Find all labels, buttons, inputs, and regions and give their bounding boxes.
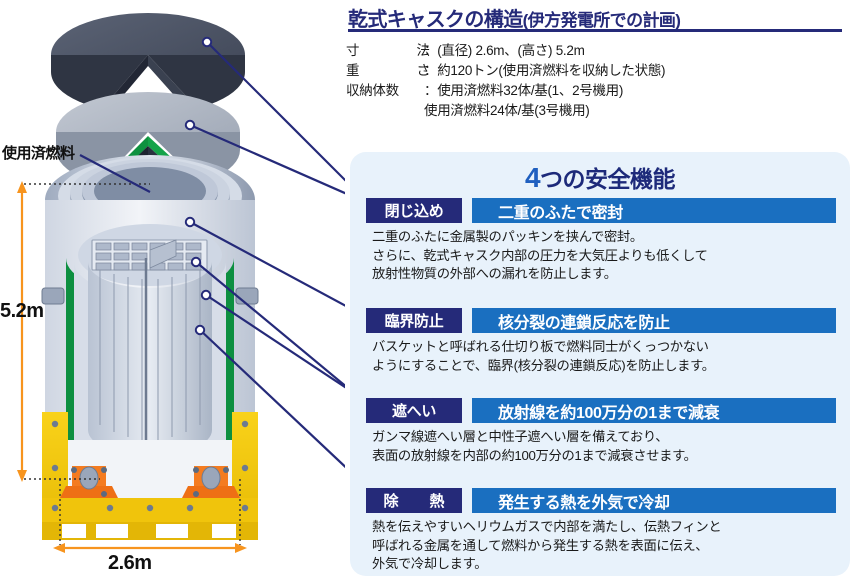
feature-tag: 臨界防止 [366, 308, 462, 333]
spec-sep: ： [424, 43, 437, 58]
feature-body: ガンマ線遮へい層と中性子遮へい層を備えており、 表面の放射線を内部の約100万分… [372, 428, 836, 465]
feature-header: 遮へい 放射線を約100万分の1まで減衰 [366, 398, 836, 423]
feature-header: 除 熱 発生する熱を外気で冷却 [366, 488, 836, 513]
spec-value: 使用済燃料24体/基(3号機用) [424, 103, 589, 118]
spec-row: 収納体数：使用済燃料32体/基(1、2号機用) [346, 81, 850, 101]
safety-features-panel: 4つの安全機能 閉じ込め 二重のふたで密封 二重のふたに金属製のパッキンを挟んで… [350, 152, 850, 576]
feature-body: バスケットと呼ばれる仕切り板で燃料同士がくっつかない ようにすることで、臨界(核… [372, 338, 836, 375]
spec-row: 使用済燃料24体/基(3号機用) [346, 101, 850, 121]
feature-body-line: 外気で冷却します。 [372, 555, 836, 574]
fuel-label: 使用済燃料 [2, 142, 75, 163]
feature-tag: 遮へい [366, 398, 462, 423]
feature-body-line: ようにすることで、臨界(核分裂の連鎖反応)を防止します。 [372, 357, 836, 376]
feature-body-line: バスケットと呼ばれる仕切り板で燃料同士がくっつかない [372, 338, 836, 357]
feature-body-line: 二重のふたに金属製のパッキンを挟んで密封。 [372, 228, 836, 247]
spec-key: 重 さ [346, 61, 424, 81]
spec-row: 寸 法：(直径) 2.6m、(高さ) 5.2m [346, 41, 850, 61]
spec-value: 使用済燃料32体/基(1、2号機用) [437, 83, 623, 98]
page-title-sub: (伊方発電所での計画) [523, 11, 681, 30]
cask-illustration: 使用済燃料 5.2m 2.6m [0, 0, 345, 581]
feature-body: 二重のふたに金属製のパッキンを挟んで密封。 さらに、乾式キャスク内部の圧力を大気… [372, 228, 836, 284]
page-title: 乾式キャスクの構造(伊方発電所での計画) [348, 3, 848, 32]
feature-body-line: 表面の放射線を内部の約100万分の1まで減衰させます。 [372, 447, 836, 466]
feature-body-line: ガンマ線遮へい層と中性子遮へい層を備えており、 [372, 428, 836, 447]
feature-criticality: 臨界防止 核分裂の連鎖反応を防止 バスケットと呼ばれる仕切り板で燃料同士がくっつ… [366, 308, 836, 375]
feature-containment: 閉じ込め 二重のふたで密封 二重のふたに金属製のパッキンを挟んで密封。 さらに、… [366, 198, 836, 284]
spec-value: (直径) 2.6m、(高さ) 5.2m [437, 43, 584, 58]
panel-heading-rest: つの安全機能 [540, 166, 675, 192]
feature-body-line: 呼ばれる金属を通して燃料から発生する熱を表面に伝え、 [372, 537, 836, 556]
feature-headline: 放射線を約100万分の1まで減衰 [472, 398, 836, 423]
feature-tag: 除 熱 [366, 488, 462, 513]
spec-sep: ： [424, 83, 437, 98]
content-column: 乾式キャスクの構造(伊方発電所での計画) 寸 法：(直径) 2.6m、(高さ) … [336, 0, 850, 581]
panel-heading-number: 4 [525, 162, 540, 193]
height-dimension-label: 5.2m [0, 300, 44, 323]
title-underline [348, 29, 842, 32]
feature-heat-removal: 除 熱 発生する熱を外気で冷却 熱を伝えやすいヘリウムガスで内部を満たし、伝熱フ… [366, 488, 836, 574]
feature-body: 熱を伝えやすいヘリウムガスで内部を満たし、伝熱フィンと 呼ばれる金属を通して燃料… [372, 518, 836, 574]
spec-row: 重 さ：約120トン(使用済燃料を収納した状態) [346, 61, 850, 81]
specs-list: 寸 法：(直径) 2.6m、(高さ) 5.2m 重 さ：約120トン(使用済燃料… [346, 41, 850, 121]
feature-body-line: さらに、乾式キャスク内部の圧力を大気圧よりも低くして [372, 247, 836, 266]
feature-header: 臨界防止 核分裂の連鎖反応を防止 [366, 308, 836, 333]
spec-key: 寸 法 [346, 41, 424, 61]
spec-sep: ： [424, 63, 437, 78]
page-title-main: 乾式キャスクの構造 [348, 9, 523, 31]
feature-headline: 二重のふたで密封 [472, 198, 836, 223]
feature-body-line: 放射性物質の外部への漏れを防止します。 [372, 265, 836, 284]
feature-shielding: 遮へい 放射線を約100万分の1まで減衰 ガンマ線遮へい層と中性子遮へい層を備え… [366, 398, 836, 465]
panel-heading: 4つの安全機能 [350, 160, 850, 194]
feature-header: 閉じ込め 二重のふたで密封 [366, 198, 836, 223]
feature-headline: 発生する熱を外気で冷却 [472, 488, 836, 513]
feature-body-line: 熱を伝えやすいヘリウムガスで内部を満たし、伝熱フィンと [372, 518, 836, 537]
feature-tag: 閉じ込め [366, 198, 462, 223]
spec-key: 収納体数 [346, 81, 424, 101]
spec-value: 約120トン(使用済燃料を収納した状態) [437, 63, 665, 78]
fuel-basket [78, 224, 222, 456]
width-dimension-label: 2.6m [108, 552, 152, 575]
feature-headline: 核分裂の連鎖反応を防止 [472, 308, 836, 333]
